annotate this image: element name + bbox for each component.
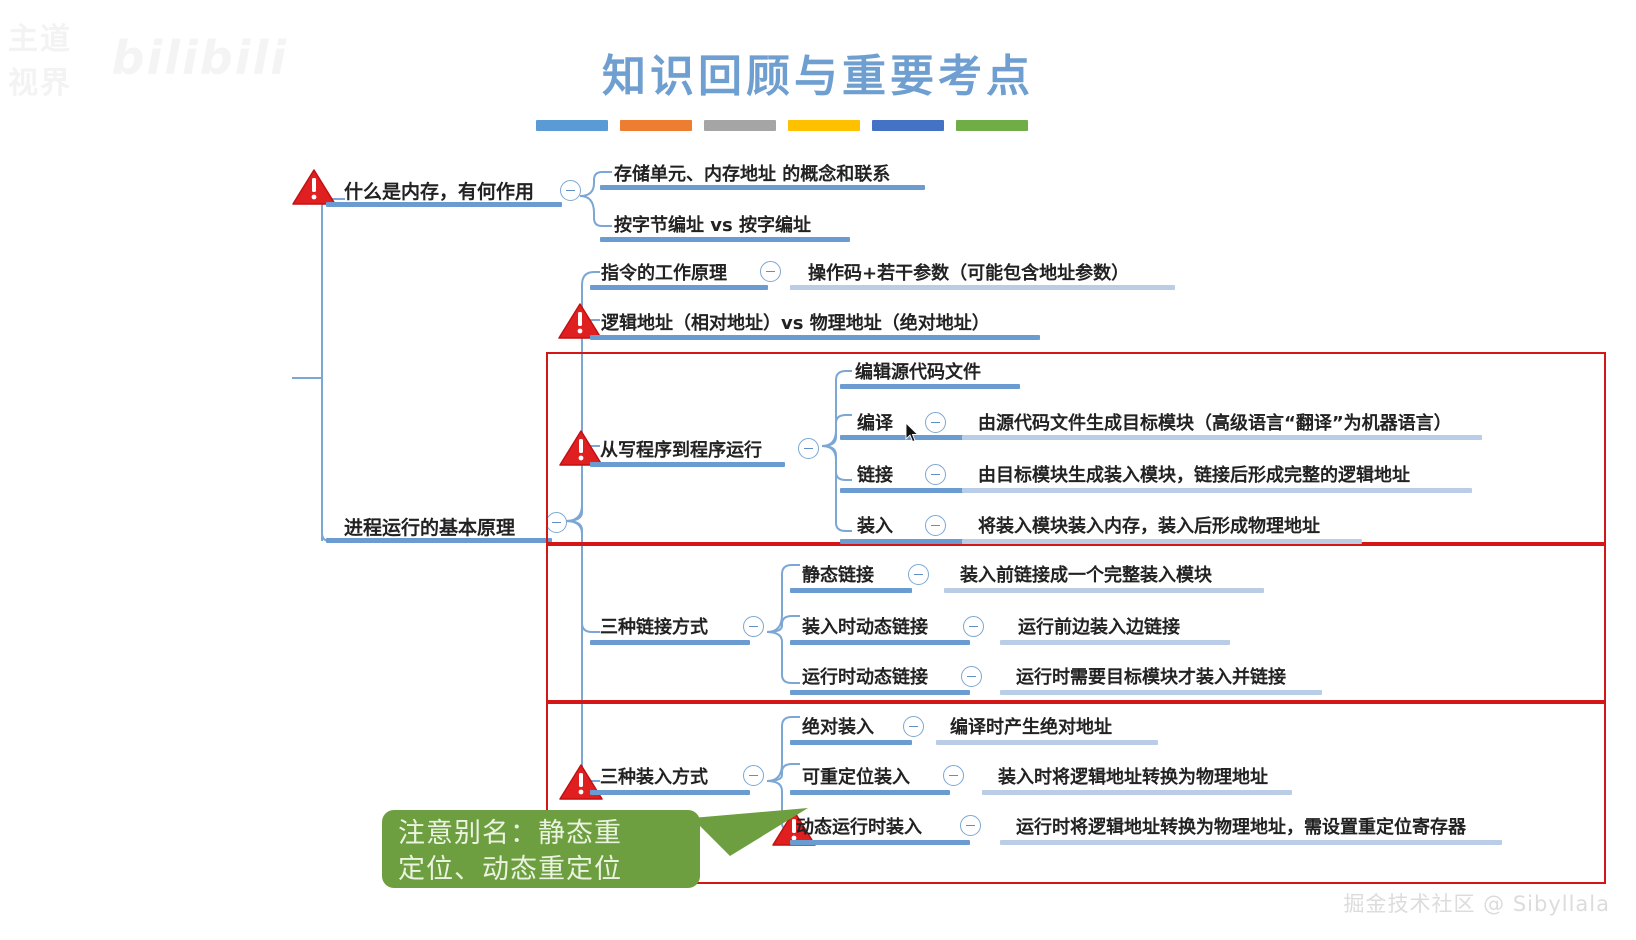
node-static-linking-detail[interactable]: 装入前链接成一个完整装入模块 xyxy=(960,561,1212,587)
node-three-loading-methods[interactable]: 三种装入方式 xyxy=(600,763,708,789)
node-static-linking[interactable]: 静态链接 xyxy=(802,561,874,587)
node-three-linking-methods[interactable]: 三种链接方式 xyxy=(600,613,708,639)
node-load-detail[interactable]: 将装入模块装入内存，装入后形成物理地址 xyxy=(978,512,1320,538)
warning-triangle-icon xyxy=(559,763,603,801)
node-underline xyxy=(790,690,970,695)
toggle-three-linking-methods[interactable] xyxy=(743,616,764,637)
node-what-is-memory[interactable]: 什么是内存，有何作用 xyxy=(344,177,534,204)
node-link[interactable]: 链接 xyxy=(857,461,893,487)
node-runtime-dynamic-linking[interactable]: 运行时动态链接 xyxy=(802,663,928,689)
node-underline xyxy=(790,285,1175,290)
page-title: 知识回顾与重要考点 xyxy=(0,40,1636,104)
toggle-runtime-dynamic-linking[interactable] xyxy=(961,666,982,687)
node-underline xyxy=(326,538,552,543)
node-from-writing-to-running[interactable]: 从写程序到程序运行 xyxy=(600,436,762,462)
title-decoration-bars xyxy=(536,120,1028,131)
title-bar-2 xyxy=(704,120,776,131)
node-dynamic-runtime-loading[interactable]: 动态运行时装入 xyxy=(796,813,922,839)
node-underline xyxy=(1000,690,1322,695)
node-opcode-params[interactable]: 操作码+若干参数（可能包含地址参数） xyxy=(808,259,1129,285)
node-load[interactable]: 装入 xyxy=(857,512,893,538)
node-underline xyxy=(936,740,1158,745)
toggle-instruction-principle[interactable] xyxy=(760,261,781,282)
toggle-from-writing-to-running[interactable] xyxy=(798,438,819,459)
node-absolute-loading[interactable]: 绝对装入 xyxy=(802,713,874,739)
callout-pointer xyxy=(690,806,810,858)
node-underline xyxy=(982,790,1292,795)
node-underline xyxy=(326,202,562,207)
node-underline xyxy=(790,588,912,593)
node-underline xyxy=(1000,640,1230,645)
node-compile-detail[interactable]: 由源代码文件生成目标模块（高级语言“翻译”为机器语言） xyxy=(978,409,1452,435)
node-logical-vs-physical-address[interactable]: 逻辑地址（相对地址）vs 物理地址（绝对地址） xyxy=(601,309,990,335)
node-dynamic-runtime-loading-detail[interactable]: 运行时将逻辑地址转换为物理地址，需设置重定位寄存器 xyxy=(1016,813,1466,839)
node-underline xyxy=(962,488,1472,493)
node-underline xyxy=(1000,840,1502,845)
node-instruction-principle[interactable]: 指令的工作原理 xyxy=(601,259,727,285)
node-underline xyxy=(600,237,850,242)
node-underline xyxy=(944,588,1264,593)
node-load-time-dynamic-linking[interactable]: 装入时动态链接 xyxy=(802,613,928,639)
toggle-dynamic-runtime-loading[interactable] xyxy=(960,815,981,836)
title-bar-1 xyxy=(620,120,692,131)
node-runtime-dynamic-detail[interactable]: 运行时需要目标模块才装入并链接 xyxy=(1016,663,1286,689)
title-bar-0 xyxy=(536,120,608,131)
node-relocatable-loading[interactable]: 可重定位装入 xyxy=(802,763,910,789)
toggle-absolute-loading[interactable] xyxy=(903,716,924,737)
callout-note-alias: 注意别名：静态重 定位、动态重定位 xyxy=(382,810,700,888)
node-underline xyxy=(590,640,750,645)
toggle-what-is-memory[interactable] xyxy=(560,180,581,201)
node-process-run-principle[interactable]: 进程运行的基本原理 xyxy=(344,513,515,540)
toggle-link[interactable] xyxy=(925,464,946,485)
node-relocatable-loading-detail[interactable]: 装入时将逻辑地址转换为物理地址 xyxy=(998,763,1268,789)
node-underline xyxy=(600,185,925,190)
toggle-load-time-dynamic-linking[interactable] xyxy=(963,616,984,637)
corner-watermark: 掘金技术社区 @ Sibyllala xyxy=(1343,888,1610,918)
callout-line-1: 注意别名：静态重 xyxy=(398,816,684,852)
node-load-time-dynamic-detail[interactable]: 运行前边装入边链接 xyxy=(1018,613,1180,639)
mouse-cursor xyxy=(905,422,919,443)
node-underline xyxy=(790,790,950,795)
toggle-load[interactable] xyxy=(925,515,946,536)
node-storage-unit-address[interactable]: 存储单元、内存地址 的概念和联系 xyxy=(614,160,890,186)
node-edit-source-file[interactable]: 编辑源代码文件 xyxy=(855,358,981,384)
node-underline xyxy=(590,335,1040,340)
callout-line-2: 定位、动态重定位 xyxy=(398,852,684,888)
node-link-detail[interactable]: 由目标模块生成装入模块，链接后形成完整的逻辑地址 xyxy=(978,461,1410,487)
title-bar-4 xyxy=(872,120,944,131)
title-bar-3 xyxy=(788,120,860,131)
node-underline xyxy=(590,790,750,795)
node-underline xyxy=(790,840,970,845)
node-underline xyxy=(790,740,912,745)
toggle-static-linking[interactable] xyxy=(908,564,929,585)
node-underline xyxy=(790,640,970,645)
node-compile[interactable]: 编译 xyxy=(857,409,893,435)
toggle-three-loading-methods[interactable] xyxy=(743,765,764,786)
toggle-compile[interactable] xyxy=(925,412,946,433)
node-underline xyxy=(840,384,1020,389)
title-bar-5 xyxy=(956,120,1028,131)
mindmap-canvas: 主道视界 bilibili 知识回顾与重要考点 xyxy=(0,0,1636,940)
warning-triangle-icon xyxy=(292,168,336,206)
node-absolute-loading-detail[interactable]: 编译时产生绝对地址 xyxy=(950,713,1112,739)
node-underline xyxy=(590,285,768,290)
node-underline xyxy=(590,462,785,467)
node-underline xyxy=(962,435,1482,440)
toggle-relocatable-loading[interactable] xyxy=(943,765,964,786)
node-byte-vs-word-addressing[interactable]: 按字节编址 vs 按字编址 xyxy=(614,211,811,237)
